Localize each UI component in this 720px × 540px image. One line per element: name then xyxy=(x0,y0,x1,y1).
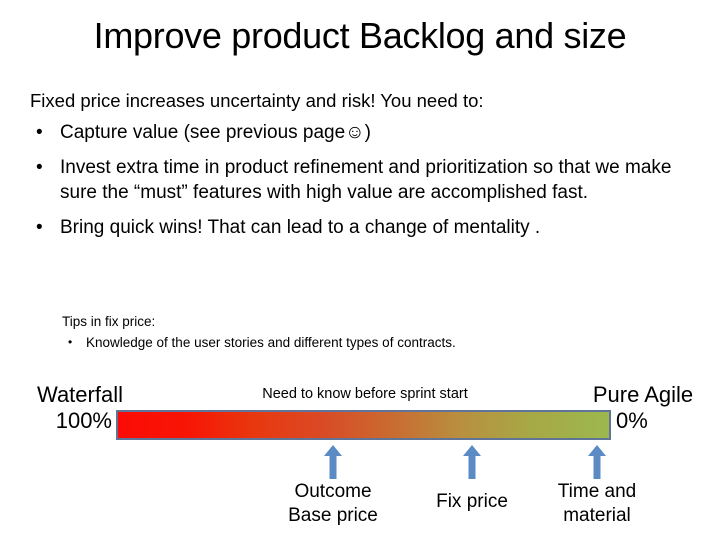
up-arrow-icon xyxy=(322,444,344,480)
scale-marker-caption-line2: material xyxy=(527,504,667,528)
lead-statement: Fixed price increases uncertainty and ri… xyxy=(30,88,690,114)
bullet-dot-icon: • xyxy=(36,120,43,146)
scale-center-caption: Need to know before sprint start xyxy=(180,385,550,404)
body-content: Fixed price increases uncertainty and ri… xyxy=(30,88,690,249)
scale-marker-caption: Fix price xyxy=(412,490,532,514)
bullet-dot-icon: • xyxy=(68,333,72,352)
up-arrow-icon xyxy=(461,444,483,480)
scale-diagram: Waterfall 100% Pure Agile 0% Need to kno… xyxy=(0,376,720,540)
gradient-scale-bar xyxy=(116,410,611,440)
page-title: Improve product Backlog and size xyxy=(0,14,720,58)
scale-right-label: Pure Agile xyxy=(578,382,708,408)
scale-marker-caption-line1: Fix price xyxy=(412,490,532,514)
bullet-list: • Capture value (see previous page☺) • I… xyxy=(30,120,690,240)
slide-canvas: Improve product Backlog and size Fixed p… xyxy=(0,0,720,540)
list-item: • Capture value (see previous page☺) xyxy=(30,120,690,146)
up-arrow-icon xyxy=(586,444,608,480)
scale-left-label: Waterfall xyxy=(20,382,140,408)
list-item-text: Knowledge of the user stories and differ… xyxy=(86,335,456,350)
scale-marker-caption: Outcome Base price xyxy=(263,480,403,528)
list-item: • Bring quick wins! That can lead to a c… xyxy=(30,215,690,241)
bullet-dot-icon: • xyxy=(36,155,43,181)
scale-marker-caption: Time and material xyxy=(527,480,667,528)
list-item-text: Capture value (see previous page☺) xyxy=(60,122,371,143)
scale-marker-caption-line1: Outcome xyxy=(263,480,403,504)
list-item-text: Invest extra time in product refinement … xyxy=(60,157,671,204)
list-item: • Knowledge of the user stories and diff… xyxy=(62,333,662,352)
scale-right-value: 0% xyxy=(616,408,676,434)
scale-marker-caption-line1: Time and xyxy=(527,480,667,504)
tips-list: • Knowledge of the user stories and diff… xyxy=(62,333,662,352)
list-item: • Invest extra time in product refinemen… xyxy=(30,155,690,206)
tips-heading: Tips in fix price: xyxy=(62,312,662,331)
scale-left-value: 100% xyxy=(20,408,112,434)
bullet-dot-icon: • xyxy=(36,215,43,241)
tips-block: Tips in fix price: • Knowledge of the us… xyxy=(62,312,662,352)
list-item-text: Bring quick wins! That can lead to a cha… xyxy=(60,217,540,238)
scale-marker-caption-line2: Base price xyxy=(263,504,403,528)
